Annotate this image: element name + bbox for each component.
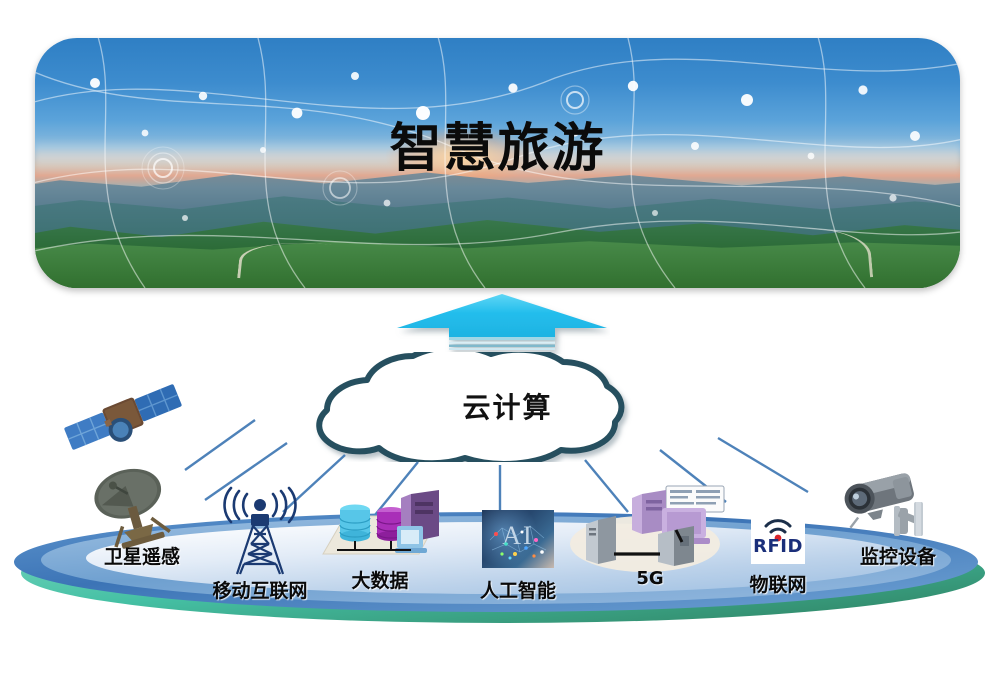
item-big-data[interactable]: 大数据: [315, 488, 445, 598]
item-label-internet-of-things: 物联网: [718, 570, 838, 597]
ai-brain-icon: AI: [482, 510, 554, 568]
item-surveillance-equipment[interactable]: 监控设备: [828, 466, 968, 576]
item-label-artificial-intelligence: 人工智能: [448, 576, 588, 603]
item-internet-of-things[interactable]: RFID 物联网: [718, 498, 838, 608]
item-label-big-data: 大数据: [315, 566, 445, 593]
item-mobile-internet[interactable]: 移动互联网: [185, 482, 335, 602]
cell-tower-icon: [207, 482, 313, 582]
rfid-card: RFID: [751, 498, 805, 564]
cctv-camera-icon: [836, 466, 958, 553]
ai-image-tile: AI: [482, 510, 554, 568]
item-artificial-intelligence[interactable]: AI: [448, 510, 588, 610]
item-label-surveillance-equipment: 监控设备: [828, 542, 968, 569]
satellite-icon: [58, 372, 188, 467]
database-servers-icon: [315, 488, 445, 573]
diagram-canvas: 智慧旅游: [0, 0, 997, 676]
item-label-five-g: 5G: [570, 568, 730, 589]
rfid-icon: RFID: [751, 498, 805, 564]
rfid-text: RFID: [751, 536, 805, 557]
network-servers-icon: [570, 484, 730, 579]
item-five-g[interactable]: 5G: [570, 484, 730, 594]
item-label-mobile-internet: 移动互联网: [185, 576, 335, 603]
